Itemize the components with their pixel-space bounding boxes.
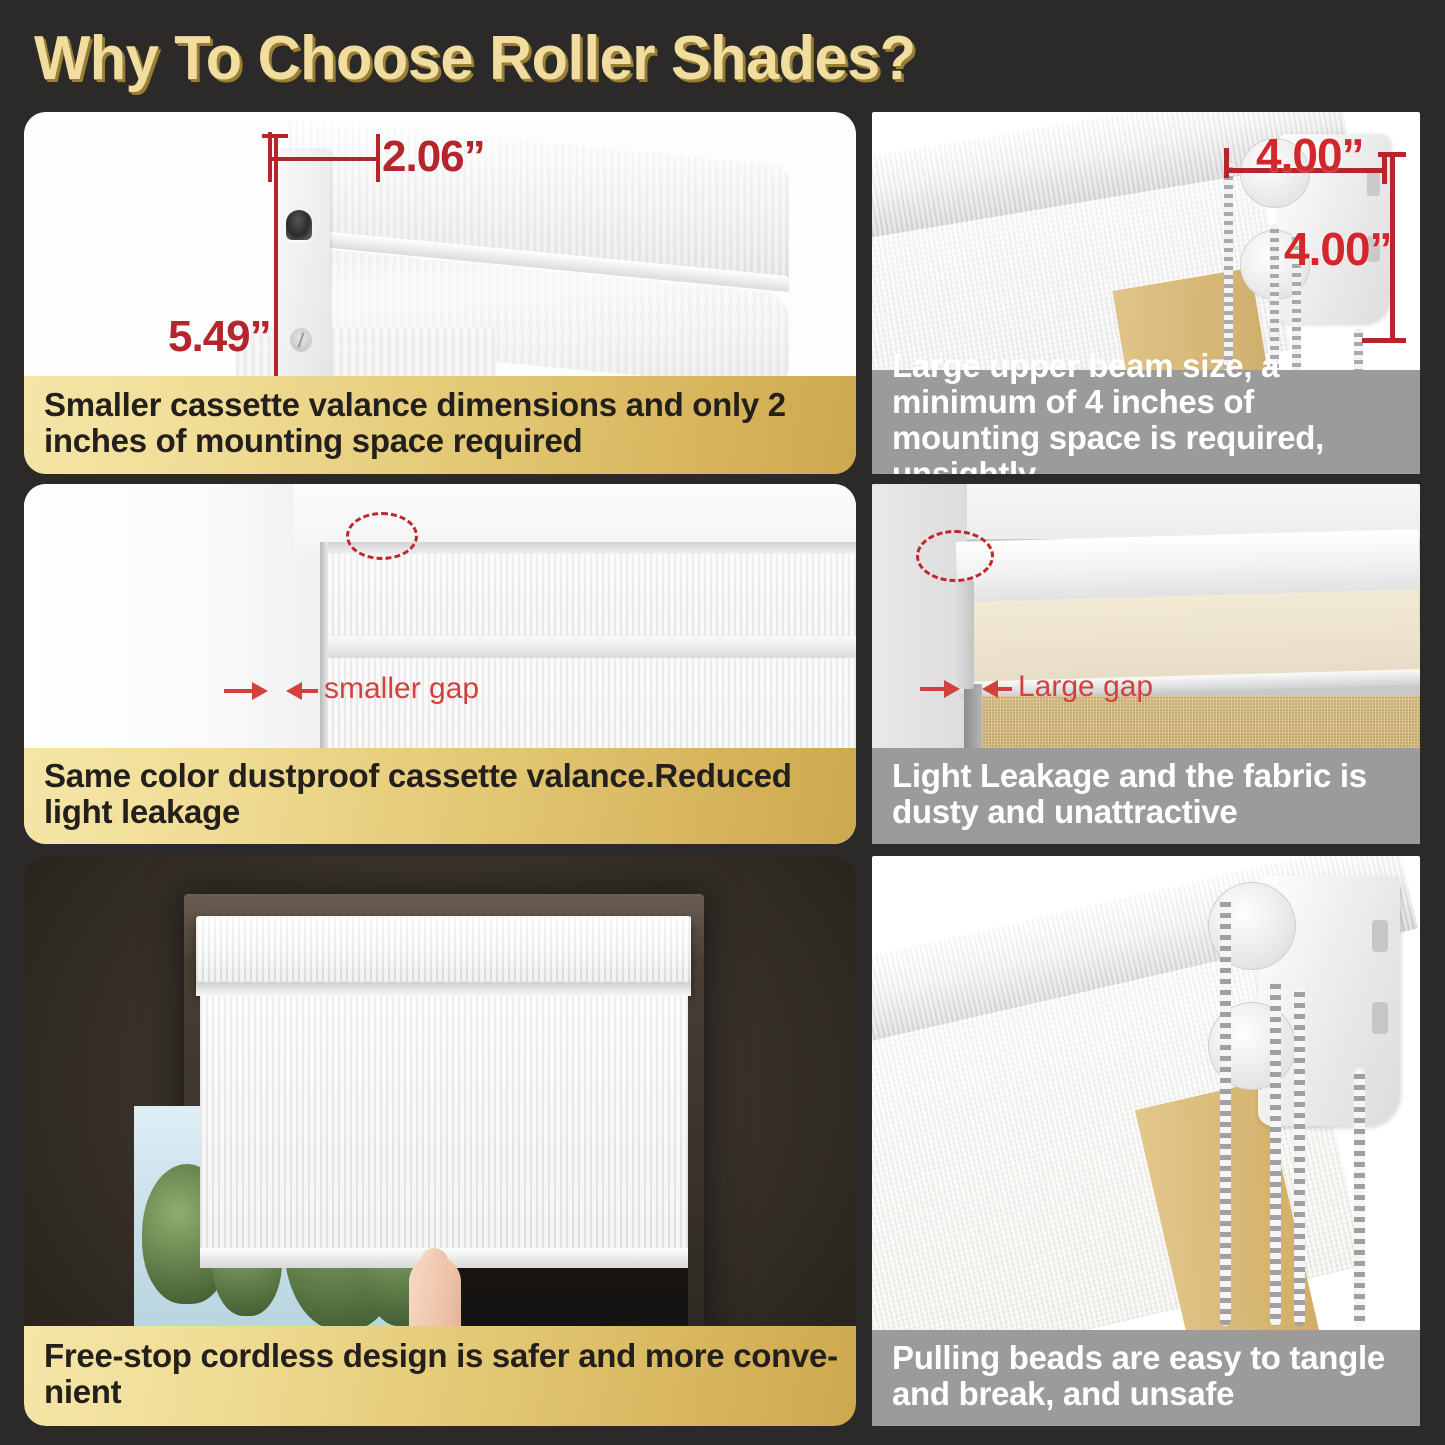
gap-arrow-left-stem — [224, 689, 254, 693]
width-dimension-label: 2.06” — [382, 132, 485, 182]
shade-upper — [326, 554, 856, 642]
caption-text: Light Leakage and the fabric is dusty an… — [892, 758, 1404, 830]
bracket-screw — [290, 328, 312, 352]
caption-bar-dustproof-cassette: Same color dustproof cassette valance.Re… — [24, 748, 856, 844]
panel-light-leakage-large-gap: Large gap Light Leakage and the fabric i… — [872, 484, 1420, 844]
caption-text: Same color dustproof cassette valance.Re… — [44, 758, 840, 830]
caption-text: Smaller cassette valance dimensions and … — [44, 387, 840, 459]
caption-bar-light-leakage: Light Leakage and the fabric is dusty an… — [872, 748, 1420, 844]
gap-highlight-circle — [916, 530, 994, 582]
beam-width-label: 4.00” — [1256, 128, 1364, 182]
caption-text: Free-stop cordless design is safer and m… — [44, 1338, 840, 1410]
bead-chain-left — [1220, 896, 1231, 1326]
small-gap-label: smaller gap — [324, 672, 479, 706]
panel-cassette-valance-dimensions: 2.06” 5.49” Smaller cassette valance dim… — [24, 112, 856, 474]
width-dim-tick-right — [376, 134, 380, 182]
page-title-text: Why To Choose Roller Shades? — [34, 23, 916, 94]
width-dim-line — [268, 157, 380, 161]
panel-pulling-beads-unsafe: Pulling beads are easy to tangle and bre… — [872, 856, 1420, 1426]
middle-rail — [324, 636, 856, 658]
beam-height-label: 4.00” — [1284, 222, 1392, 276]
infographic-page: Why To Choose Roller Shades? 2.06” — [0, 0, 1445, 1445]
beam-width-tick-left — [1224, 148, 1229, 178]
bead-chain-mid-b — [1294, 986, 1305, 1326]
large-gap-label: Large gap — [1018, 670, 1153, 704]
gap-arrow-right-head — [944, 680, 960, 698]
valance-groove — [196, 982, 691, 996]
height-dim-tick-top — [262, 134, 288, 138]
bracket-slot — [286, 210, 312, 240]
panel-free-stop-cordless: Free-stop cordless design is safer and m… — [24, 856, 856, 1426]
caption-text: Large upper beam size, a minimum of 4 in… — [892, 348, 1404, 474]
caption-bar-cassette-valance: Smaller cassette valance dimensions and … — [24, 376, 856, 474]
height-dimension-label: 5.49” — [168, 312, 271, 362]
caption-bar-large-upper-beam: Large upper beam size, a minimum of 4 in… — [872, 370, 1420, 474]
mounting-bracket — [952, 579, 974, 689]
beam-height-tick-top — [1378, 152, 1406, 157]
caption-text: Pulling beads are easy to tangle and bre… — [892, 1340, 1404, 1412]
beam-width-tick-right — [1382, 154, 1387, 184]
gap-arrow-right-stem — [300, 689, 318, 693]
bead-chain-mid-a — [1270, 978, 1281, 1326]
panel-dustproof-cassette-small-gap: smaller gap Same color dustproof cassett… — [24, 484, 856, 844]
gap-arrow-left-stem — [920, 687, 946, 691]
caption-bar-pulling-beads: Pulling beads are easy to tangle and bre… — [872, 1330, 1420, 1426]
panel-large-upper-beam: 4.00” 4.00” Large upper beam size, a min… — [872, 112, 1420, 474]
gap-arrow-right-stem — [996, 687, 1012, 691]
bead-chain-tail — [1354, 1068, 1365, 1326]
page-title: Why To Choose Roller Shades? — [34, 14, 1414, 102]
roller-shade-fabric — [200, 996, 688, 1256]
beam-height-tick-bottom — [1362, 338, 1406, 343]
width-dim-tick-left — [268, 132, 272, 182]
gap-highlight-circle — [346, 512, 418, 560]
caption-bar-free-stop-cordless: Free-stop cordless design is safer and m… — [24, 1326, 856, 1426]
gap-arrow-right-head — [252, 682, 268, 700]
